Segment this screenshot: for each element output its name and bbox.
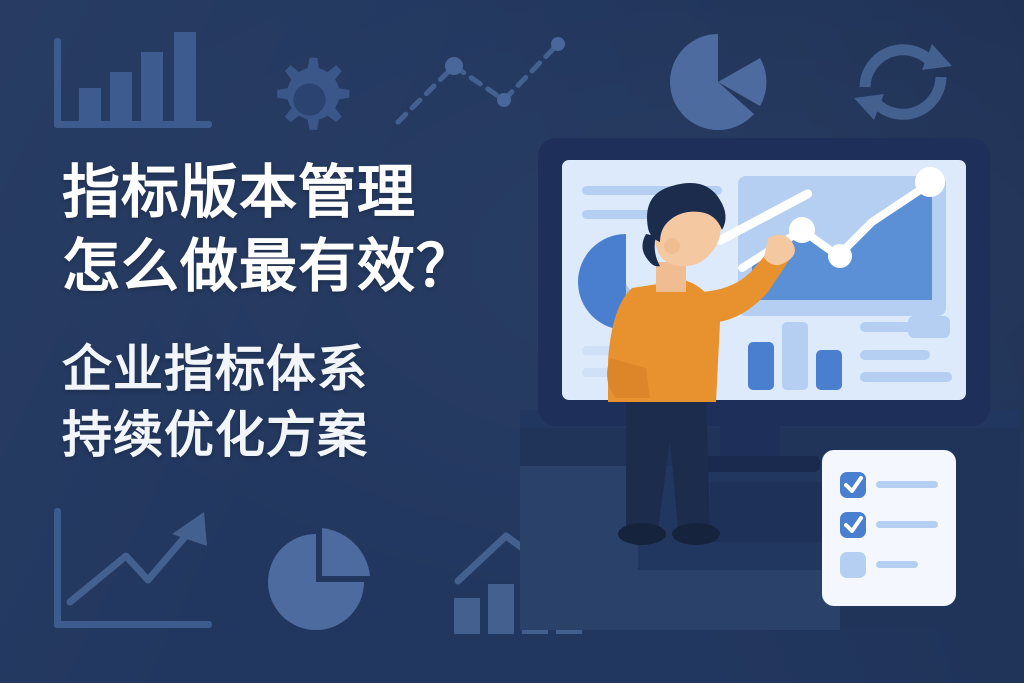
shoe (618, 523, 666, 545)
data-point (828, 244, 852, 268)
pie-chart-quarter-icon (258, 524, 374, 640)
growth-arrow-chart-icon (44, 498, 224, 646)
headline: 指标版本管理 怎么做最有效？ (62, 156, 562, 304)
headline-line-2: 怎么做最有效？ (62, 230, 562, 304)
subtitle-line-1: 企业指标体系 (62, 336, 562, 402)
dashboard-bar (782, 322, 808, 390)
data-point (915, 167, 945, 197)
poster-canvas: 指标版本管理 怎么做最有效？ 企业指标体系 持续优化方案 (0, 0, 1024, 683)
subtitle: 企业指标体系 持续优化方案 (62, 336, 562, 468)
headline-line-1: 指标版本管理 (62, 156, 562, 230)
ear (664, 238, 680, 254)
dashboard-bar (816, 350, 842, 390)
gear-icon (262, 52, 357, 147)
dashboard-bar (748, 342, 774, 390)
subtitle-line-2: 持续优化方案 (62, 402, 562, 468)
shoe (672, 523, 720, 545)
data-point (789, 217, 815, 243)
analytics-illustration (520, 110, 1020, 630)
neck (656, 262, 686, 292)
bar-chart-icon (42, 20, 222, 150)
